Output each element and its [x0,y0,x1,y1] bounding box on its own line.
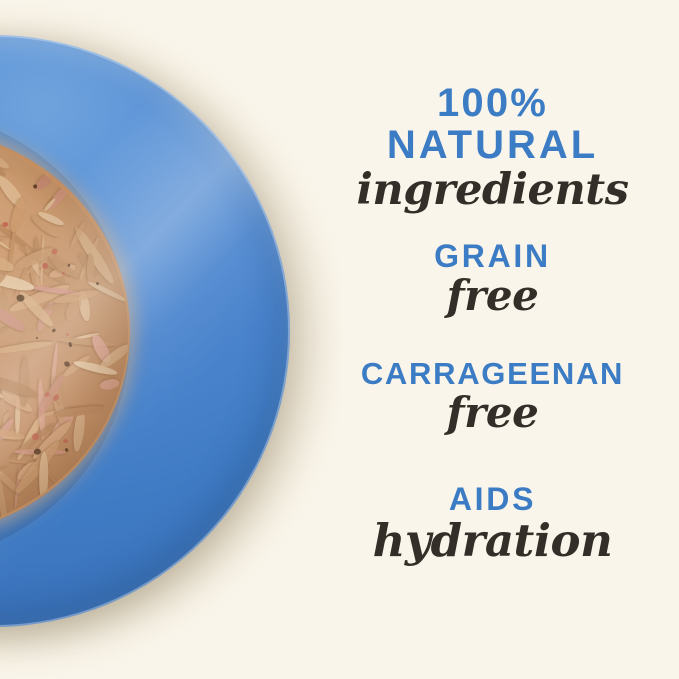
food-shred [0,427,25,442]
food-shred [7,196,28,233]
claim-hydration-script: hydration [306,518,679,563]
food-fleck [36,336,39,338]
claims-list: 100% NATURAL ingredients GRAIN free CARR… [306,0,679,679]
food-shred [34,171,56,192]
claim-natural-script: ingredients [306,169,679,212]
food-shred-strands [0,132,128,534]
claim-carrageenan-script: free [306,392,679,434]
claim-aids-hydration: AIDS hydration [306,483,679,563]
food-fleck [66,333,69,336]
food-fleck [41,263,47,269]
food-fleck [63,439,69,444]
food-shred [20,356,30,407]
food-shred [0,252,16,274]
product-photo [0,0,340,679]
food-shred [87,253,95,282]
food-shred [0,140,12,172]
food-fleck [65,447,70,452]
claim-natural-headline: 100% NATURAL [306,82,679,167]
food-fleck [68,342,72,347]
claim-carrageenan-headline: CARRAGEENAN [306,358,679,391]
food-shred [0,340,53,356]
food-fleck [2,222,9,228]
food-fleck [51,328,56,333]
claim-natural-line-1: 100% [306,82,679,124]
claim-natural-ingredients: 100% NATURAL ingredients [306,82,679,212]
food-fleck [16,294,24,301]
claim-natural-line-2: NATURAL [306,124,679,166]
claim-hydration-headline: AIDS [306,483,679,517]
claim-grain-script: free [306,275,679,317]
claim-grain-headline: GRAIN [306,240,679,274]
product-feature-graphic: 100% NATURAL ingredients GRAIN free CARR… [0,0,679,679]
shredded-food [0,132,128,534]
food-shred [99,377,120,391]
claim-grain-free: GRAIN free [306,240,679,317]
claim-carrageenan-free: CARRAGEENAN free [306,358,679,434]
